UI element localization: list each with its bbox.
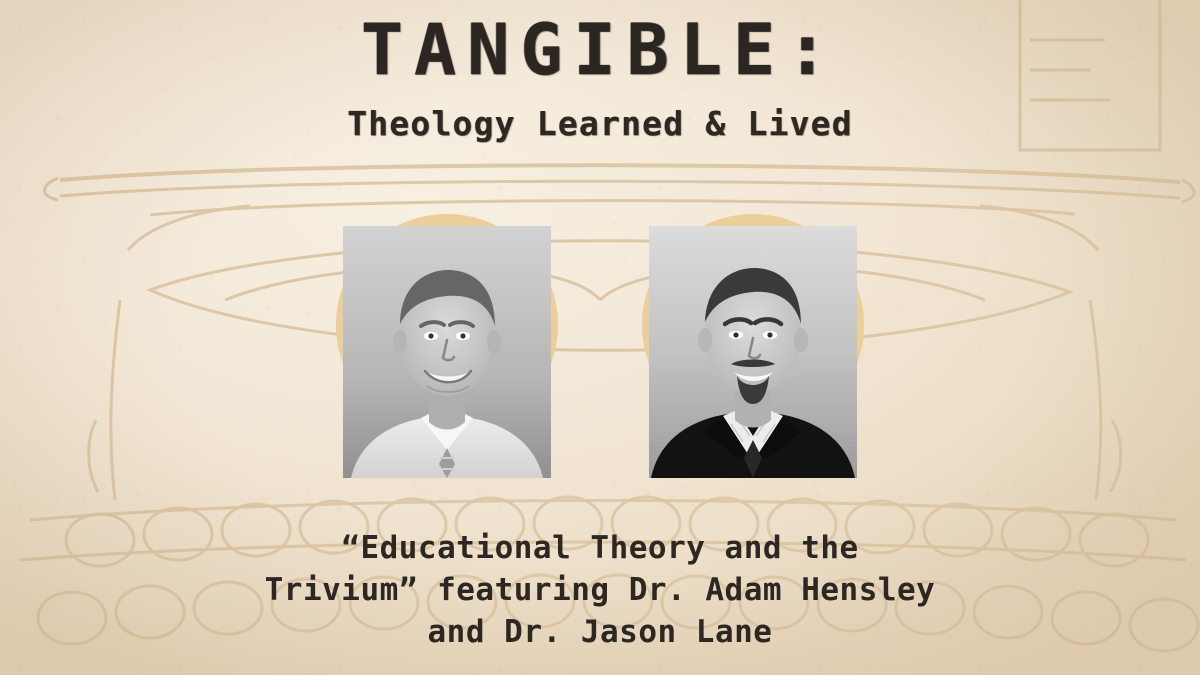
title-block: TANGIBLE: Theology Learned & Lived [0,14,1200,143]
portrait-photo-jason-lane [649,226,857,478]
guest-portrait-left [333,214,561,486]
portrait-photo-adam-hensley [343,226,551,478]
episode-caption: “Educational Theory and the Trivium” fea… [0,527,1200,653]
guest-portrait-right [639,214,867,486]
guest-portraits [0,214,1200,486]
caption-line-3: and Dr. Jason Lane [110,611,1090,653]
caption-line-1: “Educational Theory and the [110,527,1090,569]
caption-line-2: Trivium” featuring Dr. Adam Hensley [110,569,1090,611]
show-subtitle: Theology Learned & Lived [0,104,1200,143]
episode-cover-image: TANGIBLE: Theology Learned & Lived [0,0,1200,675]
show-title: TANGIBLE: [0,14,1200,88]
